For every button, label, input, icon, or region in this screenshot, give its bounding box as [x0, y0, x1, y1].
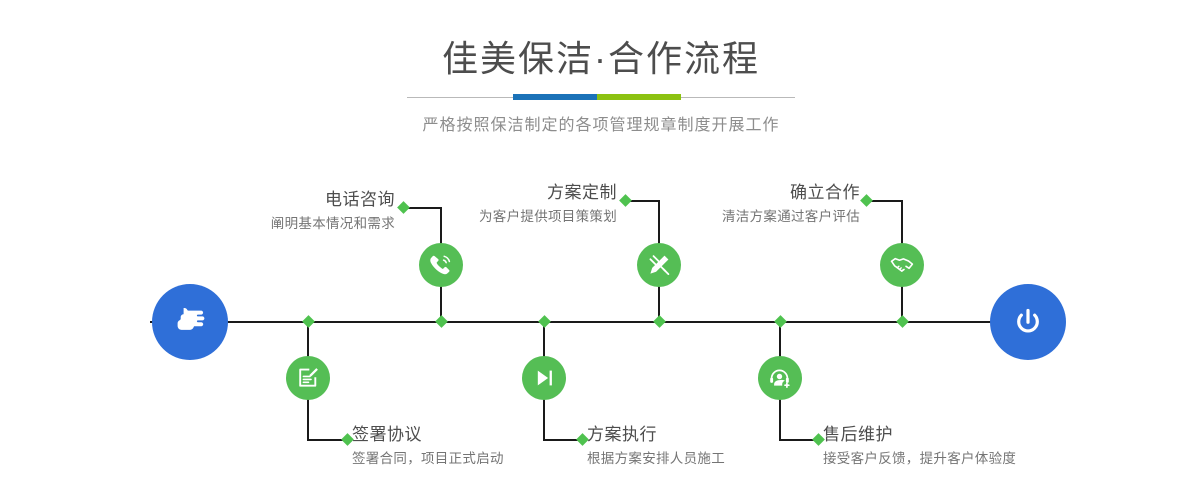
step-icon-plan-customize[interactable] [637, 243, 681, 287]
axis-marker-1 [435, 315, 448, 328]
cooperation-process-infographic: 佳美保洁·合作流程 严格按照保洁制定的各项管理规章制度开展工作 [0, 0, 1202, 502]
step-title: 售后维护 [823, 425, 1016, 445]
step-icon-sign-agreement[interactable] [286, 356, 330, 400]
step-label-establish-coop: 确立合作 清洁方案通过客户评估 [722, 183, 860, 227]
axis-marker-3 [653, 315, 666, 328]
step-icon-plan-execute[interactable] [522, 356, 566, 400]
step-label-plan-execute: 方案执行 根据方案安排人员施工 [587, 425, 725, 469]
step-icon-establish-coop[interactable] [880, 243, 924, 287]
power-icon [1008, 302, 1048, 342]
step-desc: 清洁方案通过客户评估 [722, 203, 860, 227]
document-edit-icon [295, 365, 321, 391]
timeline-end-node[interactable] [990, 284, 1066, 360]
label-marker-5 [860, 194, 873, 207]
step-icon-after-sales[interactable] [758, 356, 802, 400]
phone-call-icon [428, 252, 454, 278]
label-marker-1 [397, 201, 410, 214]
timeline-start-node[interactable] [152, 284, 228, 360]
step-title: 方案执行 [587, 425, 725, 445]
step-title: 电话咨询 [271, 190, 395, 210]
step-label-after-sales: 售后维护 接受客户反馈，提升客户体验度 [823, 425, 1016, 469]
pencil-ruler-icon [646, 252, 672, 278]
handshake-icon [889, 252, 915, 278]
step-desc: 根据方案安排人员施工 [587, 445, 725, 469]
axis-marker-4 [538, 315, 551, 328]
step-title: 确立合作 [722, 183, 860, 203]
step-desc: 阐明基本情况和需求 [271, 210, 395, 234]
step-title: 方案定制 [479, 183, 617, 203]
step-title: 签署协议 [352, 425, 504, 445]
step-icon-phone-consult[interactable] [419, 243, 463, 287]
timeline-axis [150, 321, 1052, 323]
step-desc: 接受客户反馈，提升客户体验度 [823, 445, 1016, 469]
step-desc: 签署合同，项目正式启动 [352, 445, 504, 469]
timeline: 电话咨询 阐明基本情况和需求 签署协议 签署合同，项目正式启动 [0, 0, 1202, 502]
customer-service-icon [767, 365, 793, 391]
axis-marker-6 [774, 315, 787, 328]
axis-marker-5 [896, 315, 909, 328]
axis-marker-2 [302, 315, 315, 328]
label-marker-3 [619, 194, 632, 207]
play-next-icon [531, 365, 557, 391]
step-label-plan-customize: 方案定制 为客户提供项目策策划 [479, 183, 617, 227]
pointing-hand-icon [170, 302, 210, 342]
step-label-sign-agreement: 签署协议 签署合同，项目正式启动 [352, 425, 504, 469]
step-label-phone-consult: 电话咨询 阐明基本情况和需求 [271, 190, 395, 234]
step-desc: 为客户提供项目策策划 [479, 203, 617, 227]
